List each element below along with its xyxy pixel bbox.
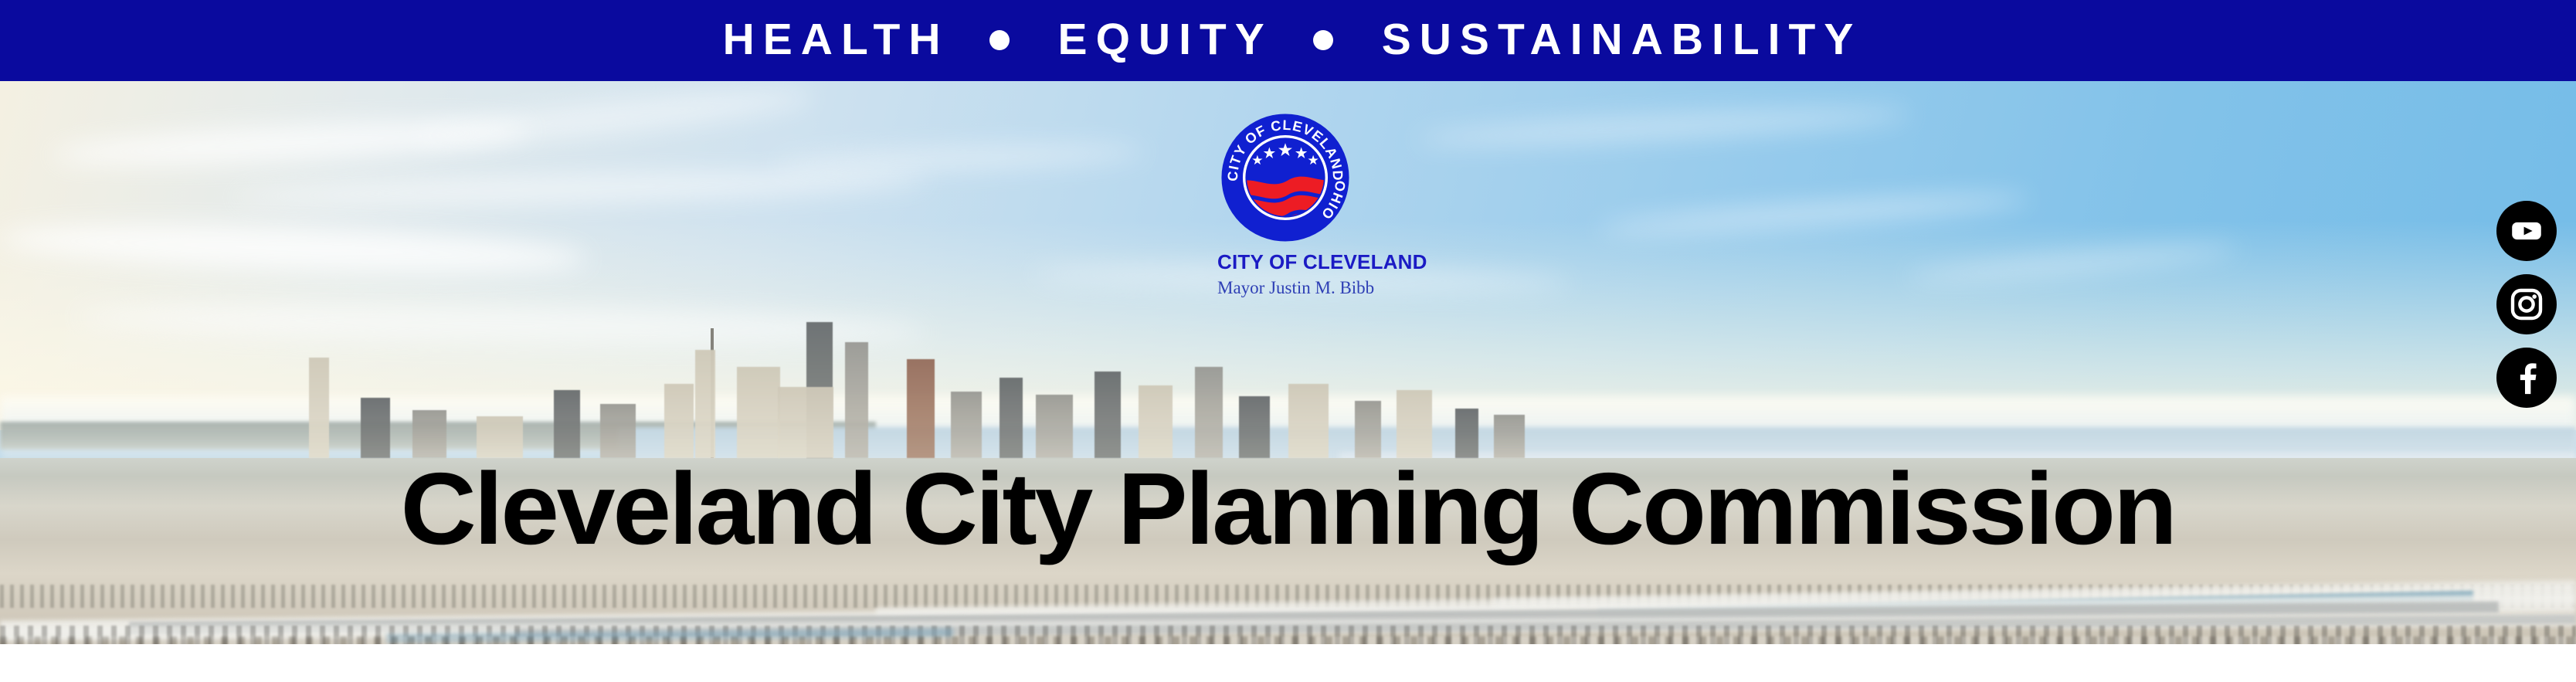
hero-photo: CITY OF CLEVELAND OHIO CITY OF CLEVELAND… <box>0 81 2576 644</box>
bullet-dot-icon <box>989 30 1010 50</box>
tagline-banner: HEALTH EQUITY SUSTAINABILITY <box>0 0 2576 81</box>
banner-word-health: HEALTH <box>714 18 949 62</box>
banner-word-equity: EQUITY <box>1050 18 1273 62</box>
banner-word-sustainability: SUSTAINABILITY <box>1373 18 1862 62</box>
seal-title: CITY OF CLEVELAND <box>1217 252 1353 272</box>
youtube-link[interactable] <box>2496 201 2557 261</box>
youtube-icon <box>2509 213 2544 249</box>
seal-subtitle: Mayor Justin M. Bibb <box>1217 279 1353 297</box>
instagram-link[interactable] <box>2496 274 2557 334</box>
city-seal-block: CITY OF CLEVELAND OHIO CITY OF CLEVELAND… <box>1217 111 1353 297</box>
page-root: HEALTH EQUITY SUSTAINABILITY <box>0 0 2576 682</box>
bullet-dot-icon <box>1313 30 1333 50</box>
facebook-link[interactable] <box>2496 348 2557 408</box>
city-of-cleveland-seal-icon: CITY OF CLEVELAND OHIO <box>1219 111 1352 244</box>
footer-whitespace <box>0 644 2576 682</box>
social-links <box>2496 201 2557 408</box>
instagram-icon <box>2509 287 2544 322</box>
facebook-icon <box>2509 360 2544 395</box>
